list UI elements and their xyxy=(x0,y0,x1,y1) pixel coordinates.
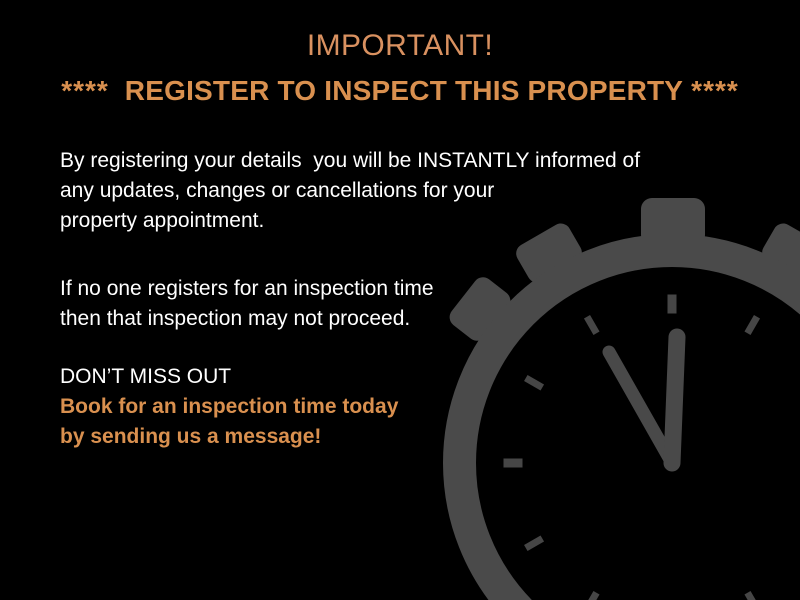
stars-right-decoration: **** xyxy=(691,75,739,106)
paragraph-line: property appointment. xyxy=(60,206,640,236)
paragraph-call-to-action: DON’T MISS OUT Book for an inspection ti… xyxy=(60,362,398,452)
promotional-slide: IMPORTANT! **** REGISTER TO INSPECT THIS… xyxy=(0,0,800,600)
paragraph-line: any updates, changes or cancellations fo… xyxy=(60,176,640,206)
paragraph-registering-benefits: By registering your details you will be … xyxy=(60,146,640,236)
cta-dont-miss-out: DON’T MISS OUT xyxy=(60,362,398,392)
cta-send-message: by sending us a message! xyxy=(60,422,398,452)
headline-register: **** REGISTER TO INSPECT THIS PROPERTY *… xyxy=(0,74,800,108)
slide-text-layer: IMPORTANT! **** REGISTER TO INSPECT THIS… xyxy=(0,0,800,600)
stars-left-decoration: **** xyxy=(61,75,109,106)
headline-important: IMPORTANT! xyxy=(0,28,800,64)
paragraph-line: then that inspection may not proceed. xyxy=(60,304,434,334)
paragraph-line: By registering your details you will be … xyxy=(60,146,640,176)
paragraph-no-registration-warning: If no one registers for an inspection ti… xyxy=(60,274,434,334)
cta-book-inspection: Book for an inspection time today xyxy=(60,392,398,422)
paragraph-line: If no one registers for an inspection ti… xyxy=(60,274,434,304)
headline-register-text: REGISTER TO INSPECT THIS PROPERTY xyxy=(125,75,683,106)
